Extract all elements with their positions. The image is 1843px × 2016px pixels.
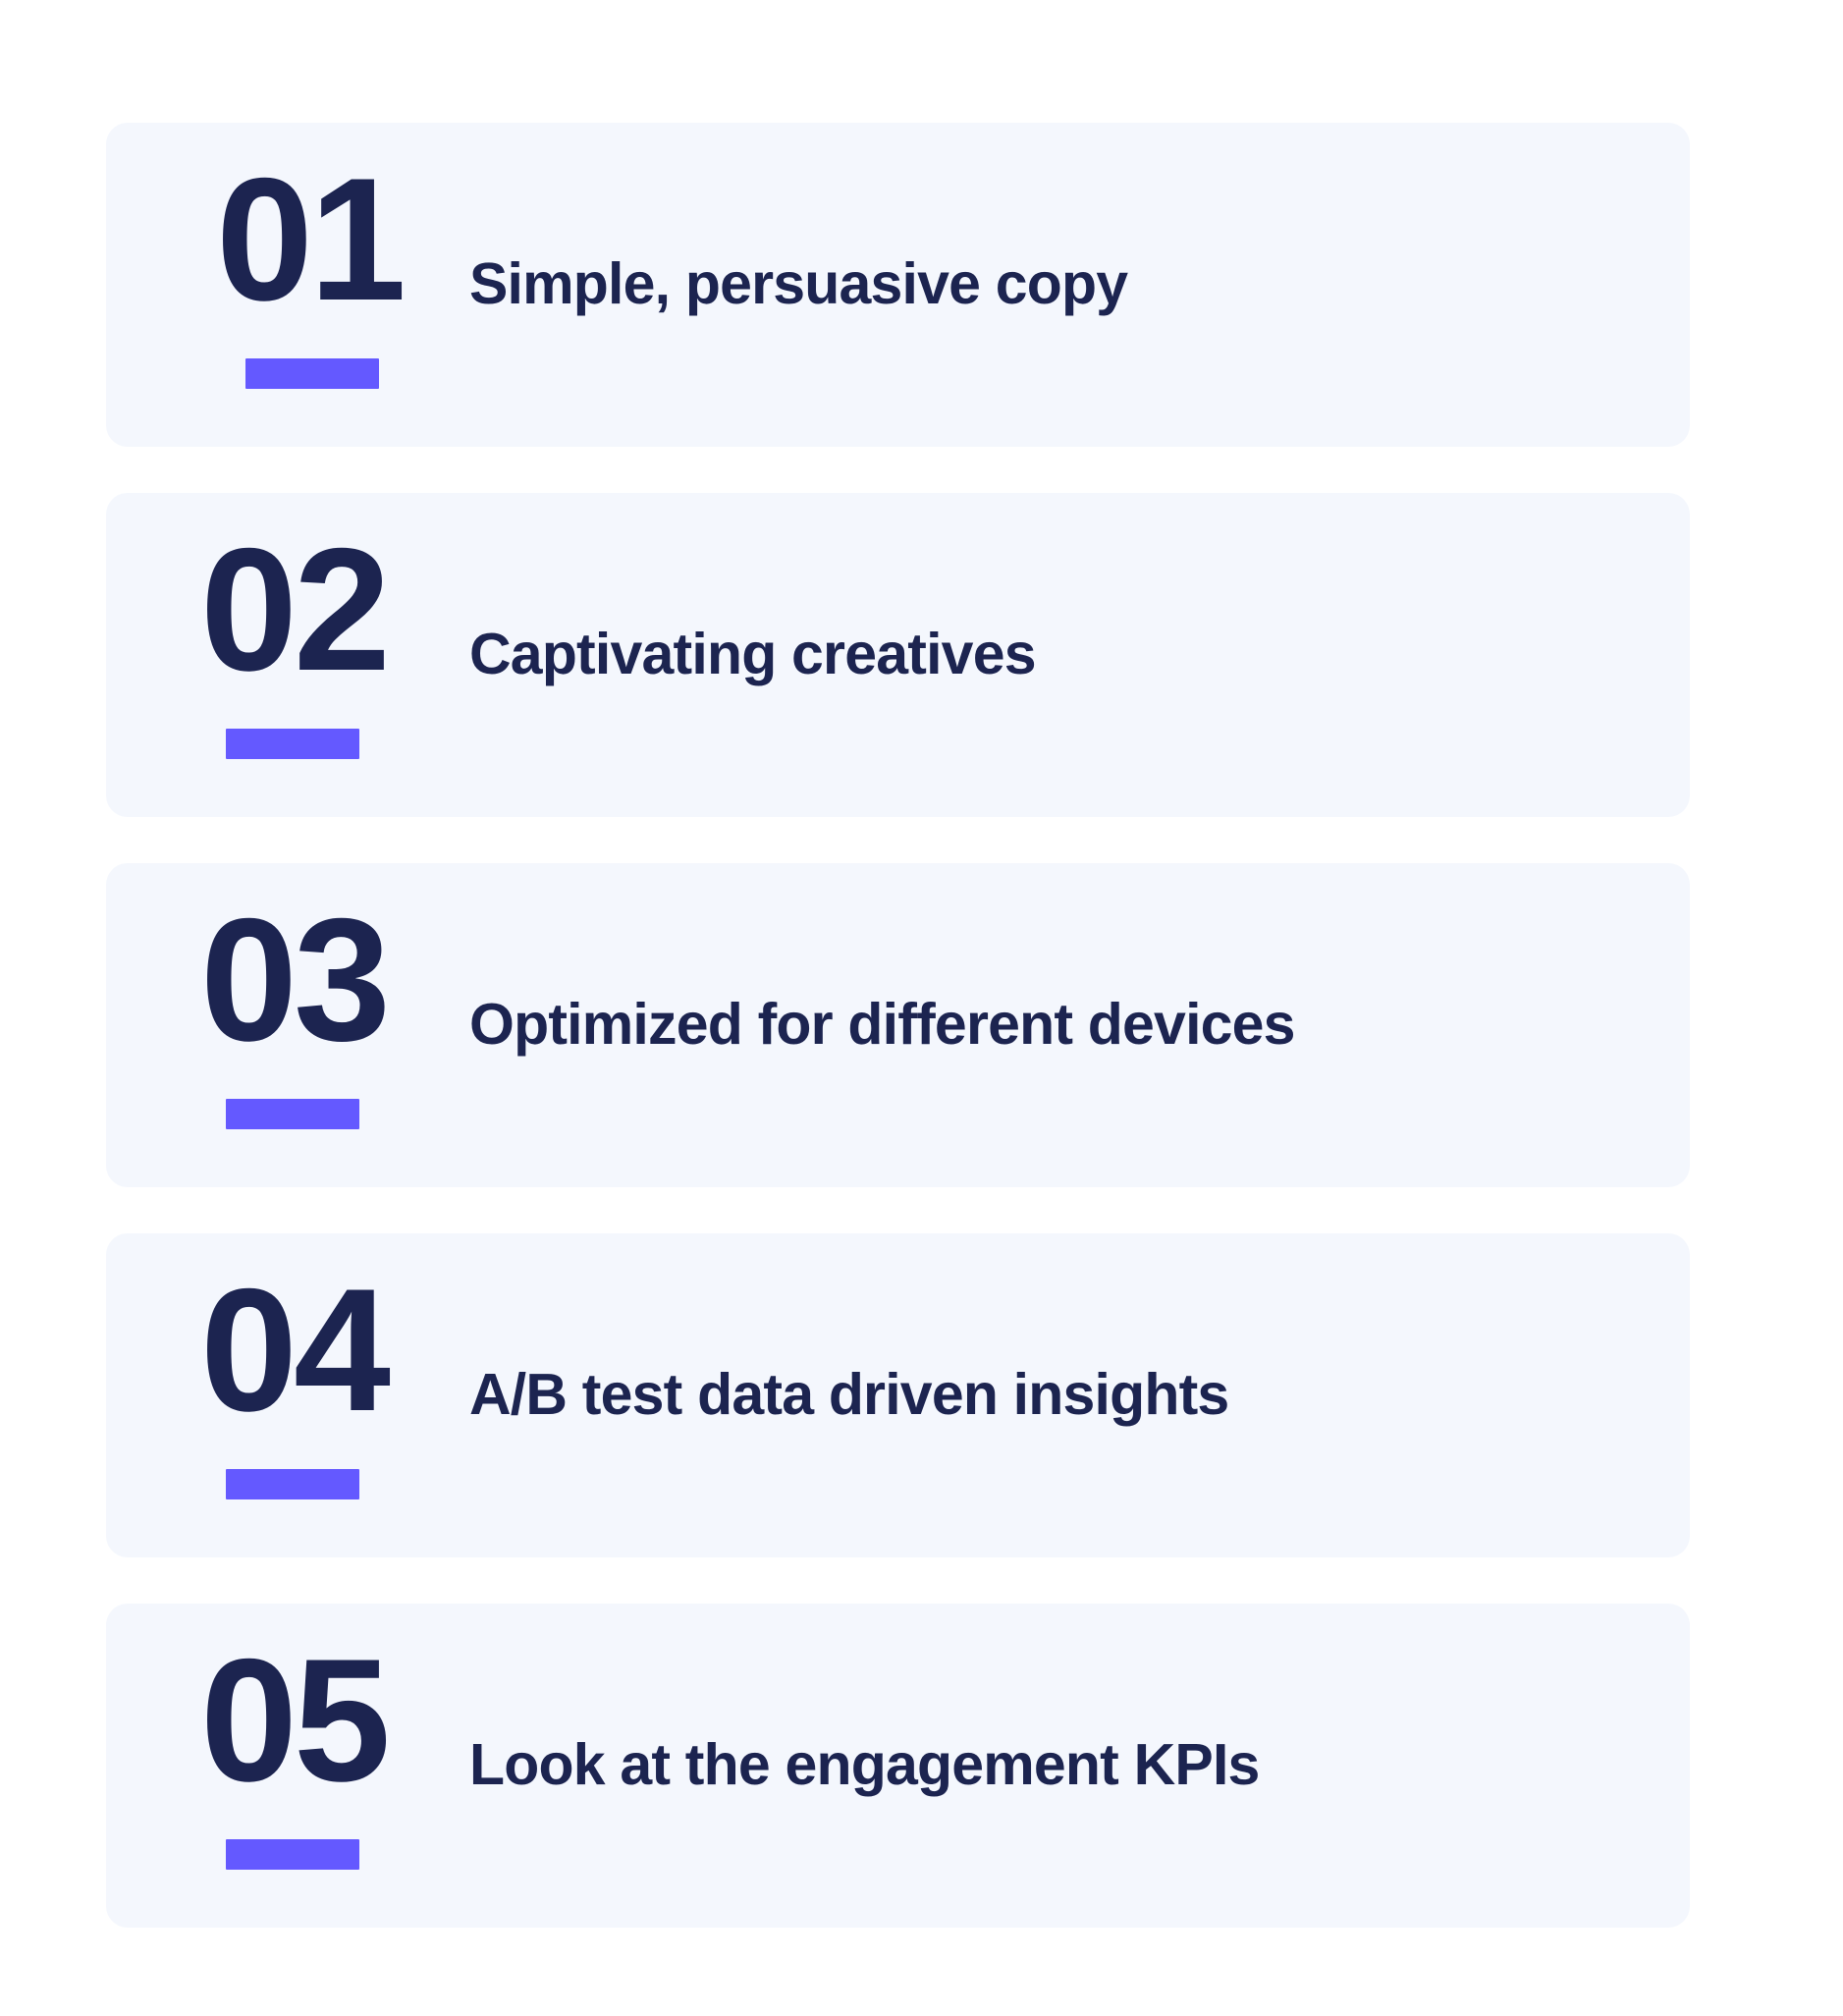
accent-underline-rule	[245, 358, 379, 389]
step-label: Captivating creatives	[469, 622, 1036, 688]
accent-underline-rule	[226, 1839, 359, 1870]
step-label: Optimized for different devices	[469, 992, 1295, 1059]
step-numeral-block: 04	[106, 1233, 469, 1499]
step-card[interactable]: 03 Optimized for different devices	[106, 863, 1690, 1187]
step-card[interactable]: 02 Captivating creatives	[106, 493, 1690, 817]
step-card-list: 01 Simple, persuasive copy 02 Captivatin…	[106, 123, 1690, 1928]
step-numeral-block: 02	[106, 493, 469, 759]
step-card[interactable]: 05 Look at the engagement KPIs	[106, 1604, 1690, 1928]
accent-underline-rule	[226, 1469, 359, 1499]
step-label-block: Captivating creatives	[469, 493, 1690, 817]
step-label-block: Optimized for different devices	[469, 863, 1690, 1187]
accent-underline-rule	[226, 1099, 359, 1129]
step-card[interactable]: 01 Simple, persuasive copy	[106, 123, 1690, 447]
step-label-block: Look at the engagement KPIs	[469, 1604, 1690, 1928]
step-numeral-block: 01	[106, 123, 469, 389]
step-label-block: Simple, persuasive copy	[469, 123, 1690, 447]
step-card[interactable]: 04 A/B test data driven insights	[106, 1233, 1690, 1557]
step-label: Simple, persuasive copy	[469, 251, 1127, 318]
step-number: 04	[200, 1261, 387, 1440]
step-number: 03	[200, 891, 387, 1069]
step-number: 01	[216, 150, 403, 329]
step-number: 02	[200, 520, 387, 699]
step-label: Look at the engagement KPIs	[469, 1732, 1260, 1799]
accent-underline-rule	[226, 729, 359, 759]
infographic-board: 01 Simple, persuasive copy 02 Captivatin…	[0, 0, 1843, 2016]
step-numeral-block: 05	[106, 1604, 469, 1870]
step-numeral-block: 03	[106, 863, 469, 1129]
step-number: 05	[200, 1631, 387, 1810]
step-label: A/B test data driven insights	[469, 1362, 1228, 1429]
step-label-block: A/B test data driven insights	[469, 1233, 1690, 1557]
